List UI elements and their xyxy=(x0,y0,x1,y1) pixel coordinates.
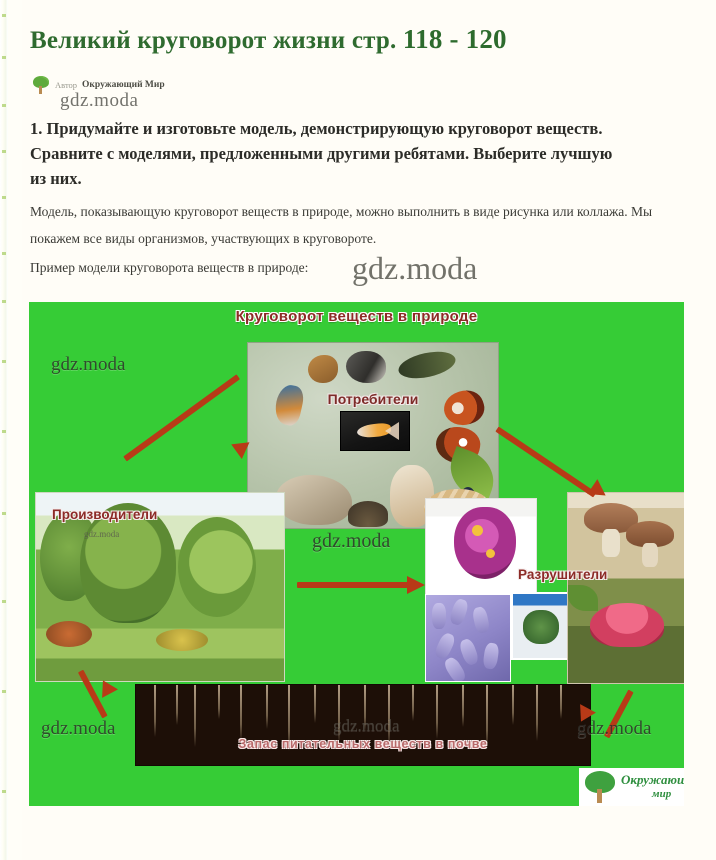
figure-watermark: gdz.moda xyxy=(51,354,125,376)
page-title: Великий круговорот жизни стр. 118 - 120 xyxy=(30,24,507,56)
mushrooms-photo xyxy=(567,492,684,684)
decomposers-label: Разрушители xyxy=(518,567,607,582)
logo-text: Окружающий мир xyxy=(621,773,684,801)
watermark-example: gdz.moda xyxy=(352,250,477,287)
page-title-main: Великий круговорот жизни стр. xyxy=(30,27,396,54)
answer-paragraph: Модель, показывающую круговорот веществ … xyxy=(30,198,698,252)
shrub-illustration xyxy=(156,629,208,651)
producers-photo: Производители gdz.moda xyxy=(35,492,285,682)
mould-photo xyxy=(511,592,571,660)
soil-label: Запас питательных веществ в почве xyxy=(136,737,590,751)
page-title-pages: 118 - 120 xyxy=(403,24,507,54)
figure-watermark: gdz.moda xyxy=(312,530,390,553)
logo-line-2: мир xyxy=(621,787,684,801)
badger-illustration xyxy=(258,431,324,479)
eagle-illustration xyxy=(346,351,386,383)
page-left-edge xyxy=(0,0,8,860)
example-label: Пример модели круговорота веществ в прир… xyxy=(30,258,308,278)
author-label: Автор xyxy=(55,80,77,90)
watermark-header: gdz.moda xyxy=(60,90,138,112)
article-content: Великий круговорот жизни стр. 118 - 120 … xyxy=(22,0,716,860)
lizard-illustration xyxy=(396,347,458,383)
tree-logo-icon xyxy=(585,771,615,803)
arrow-producers-to-decomposers xyxy=(297,578,433,592)
figure-watermark: gdz.moda xyxy=(577,718,651,740)
tree-icon xyxy=(32,76,50,94)
squirrel-illustration xyxy=(308,355,338,383)
bacteria-photo xyxy=(425,594,511,682)
figure-watermark: gdz.moda xyxy=(41,718,115,740)
producers-label: Производители xyxy=(52,507,157,522)
question-text: 1. Придумайте и изготовьте модель, демон… xyxy=(30,116,630,191)
diagram-title: Круговорот веществ в природе xyxy=(29,308,684,325)
cycle-diagram-image: Круговорот веществ в природе По xyxy=(29,302,684,806)
producers-watermark: gdz.moda xyxy=(84,529,119,539)
wolf-illustration xyxy=(276,475,352,525)
arrow-producers-to-consumers xyxy=(125,412,259,502)
site-logo-badge: Окружающий мир xyxy=(579,768,684,806)
tree-illustration xyxy=(178,517,256,617)
consumers-label: Потребители xyxy=(248,391,498,407)
fish-photo-inset xyxy=(340,411,410,451)
shrub-illustration xyxy=(46,621,92,647)
page-background: Великий круговорот жизни стр. 118 - 120 … xyxy=(0,0,716,860)
hedgehog-illustration xyxy=(348,501,388,527)
figure-watermark: gdz.moda xyxy=(333,716,400,736)
logo-line-1: Окружающий xyxy=(621,772,684,787)
arrow-consumers-to-decomposers xyxy=(497,422,637,514)
author-name: Окружающий Мир xyxy=(82,80,165,90)
